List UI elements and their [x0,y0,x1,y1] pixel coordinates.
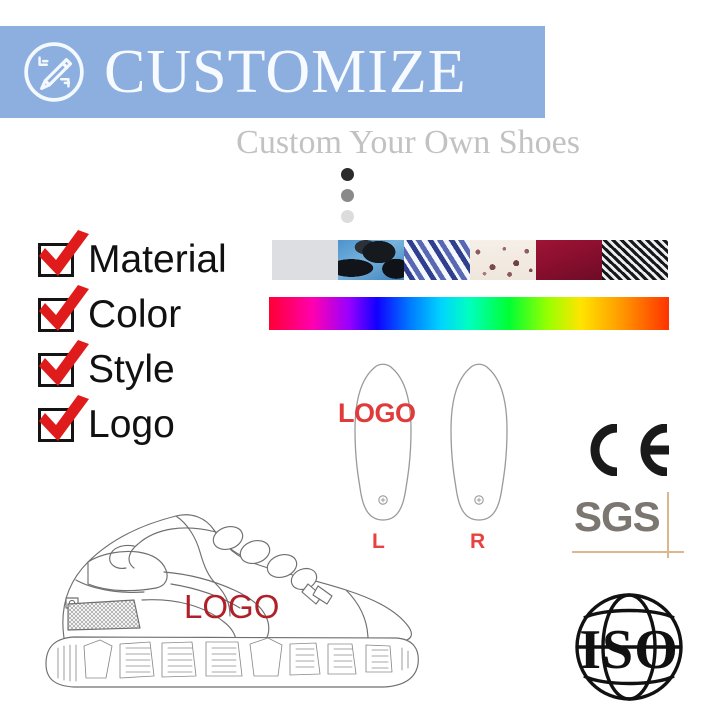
decorative-dots [341,168,359,231]
swatch-blue-white-stripe[interactable] [404,240,470,280]
page-title: CUSTOMIZE [104,41,467,103]
insole-logo-text: LOGO [338,398,416,429]
swatch-maroon-solid[interactable] [536,240,602,280]
checkbox[interactable] [38,408,74,442]
svg-text:ISO: ISO [579,619,679,681]
checkbox[interactable] [38,353,74,387]
sgs-label: SGS [574,496,660,538]
dot-2 [341,189,354,202]
check-icon [37,340,91,388]
checklist-item-material[interactable]: Material [38,232,227,287]
checklist-label: Material [88,240,227,279]
checklist-item-logo[interactable]: Logo [38,397,227,452]
checkbox[interactable] [38,298,74,332]
swatch-floral-speckle[interactable] [470,240,536,280]
swatch-blue-black-camo[interactable] [338,240,404,280]
swatch-herringbone[interactable] [602,240,668,280]
checklist-label: Logo [88,405,175,444]
sgs-accent-line-vertical [667,492,669,558]
material-swatch-strip [272,240,668,280]
shoe-logo-text: LOGO [184,588,279,626]
header-bar: CUSTOMIZE [0,26,545,118]
sgs-accent-line-horizontal [572,551,684,553]
pencil-edit-icon [18,36,90,108]
sgs-logo: SGS [574,496,684,558]
checklist-item-style[interactable]: Style [38,342,227,397]
swatch-plain-light-gray[interactable] [272,240,338,280]
insole-right-label: R [470,530,485,554]
feature-checklist: Material Color Style Lo [38,232,227,452]
checklist-label: Color [88,295,181,334]
checklist-item-color[interactable]: Color [38,287,227,342]
check-icon [37,230,91,278]
customize-banner: CUSTOMIZE Custom Your Own Shoes Material… [0,0,720,720]
sneaker-illustration: LOGO [16,488,426,703]
ce-mark-icon [583,424,673,476]
iso-logo-icon: ISO [556,588,702,706]
checklist-label: Style [88,350,175,389]
dot-3 [341,210,354,223]
checkbox[interactable] [38,243,74,277]
dot-1 [341,168,354,181]
check-icon [37,395,91,443]
color-gradient-bar[interactable] [269,297,669,330]
check-icon [37,285,91,333]
subtitle: Custom Your Own Shoes [0,126,580,160]
